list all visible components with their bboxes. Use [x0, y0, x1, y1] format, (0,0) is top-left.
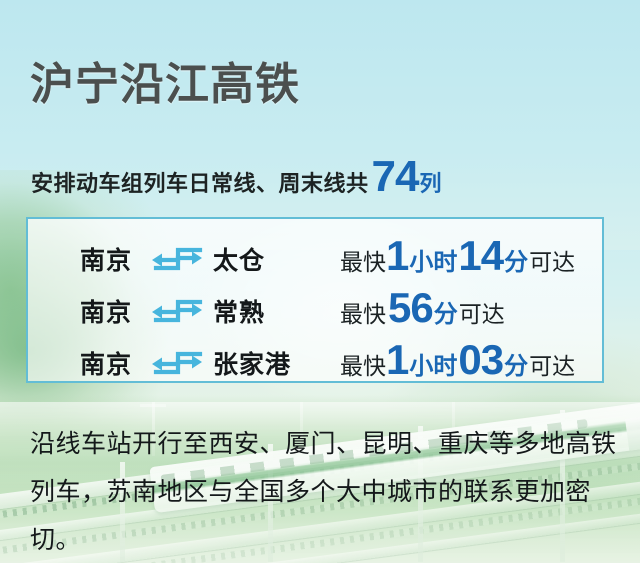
table-row: 南京 太仓 最快 1 小时 14 分 可达: [28, 233, 602, 285]
duration-minutes-value: 03: [458, 346, 503, 374]
swap-arrows-icon: [150, 244, 204, 274]
duration-minutes-value: 56: [388, 294, 433, 322]
table-row: 南京 张家港 最快 1 小时 03 分 可达: [28, 337, 602, 389]
duration-suffix: 可达: [529, 243, 575, 277]
route-destination-city: 太仓: [213, 241, 265, 277]
route-origin-city: 南京: [80, 241, 132, 277]
subtitle-line: 安排动车组列车日常线、周末线共 74 列: [31, 160, 441, 201]
subtitle-train-count: 74: [372, 160, 419, 194]
duration-minutes-unit: 分: [434, 294, 458, 329]
duration-hours-value: 1: [386, 346, 408, 374]
swap-arrows-icon: [150, 296, 204, 326]
route-duration: 最快 1 小时 14 分 可达: [340, 242, 575, 277]
duration-hours-unit: 小时: [409, 242, 457, 277]
route-table: 南京 太仓 最快 1 小时 14 分 可达: [26, 217, 604, 383]
route-destination-city: 常熟: [213, 293, 265, 329]
duration-minutes-unit: 分: [504, 242, 528, 277]
poster-content: 沪宁沿江高铁 安排动车组列车日常线、周末线共 74 列 南京 太仓: [0, 0, 640, 563]
duration-hours-unit: 小时: [409, 346, 457, 381]
poster-canvas: 沪宁沿江高铁 安排动车组列车日常线、周末线共 74 列 南京 太仓: [0, 0, 640, 563]
duration-hours-value: 1: [386, 242, 408, 270]
route-duration: 最快 56 分 可达: [340, 294, 505, 329]
duration-suffix: 可达: [529, 347, 575, 381]
subtitle-text: 安排动车组列车日常线、周末线共: [31, 167, 369, 201]
route-duration: 最快 1 小时 03 分 可达: [340, 346, 575, 381]
table-row: 南京 常熟 最快 56 分 可达: [28, 285, 602, 337]
duration-prefix: 最快: [340, 295, 386, 329]
duration-minutes-unit: 分: [504, 346, 528, 381]
route-origin-city: 南京: [80, 293, 132, 329]
duration-prefix: 最快: [340, 243, 386, 277]
duration-prefix: 最快: [340, 347, 386, 381]
duration-suffix: 可达: [459, 295, 505, 329]
page-title: 沪宁沿江高铁: [30, 63, 300, 107]
swap-arrows-icon: [150, 348, 204, 378]
duration-minutes-value: 14: [458, 242, 503, 270]
subtitle-train-unit: 列: [419, 167, 441, 201]
route-destination-city: 张家港: [213, 345, 291, 381]
route-origin-city: 南京: [80, 345, 132, 381]
description-paragraph: 沿线车站开行至西安、厦门、昆明、重庆等多地高铁列车，苏南地区与全国多个大中城市的…: [30, 420, 618, 563]
